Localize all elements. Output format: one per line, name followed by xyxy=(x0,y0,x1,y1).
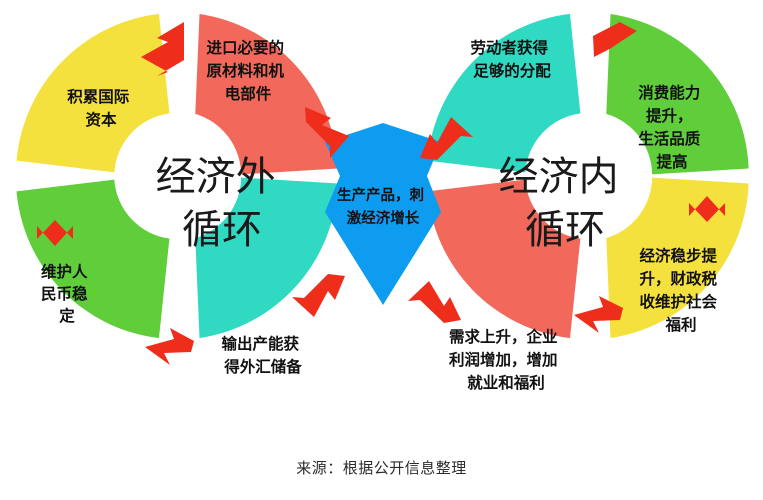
left-segment-rmb-stability[interactable]: 维护人 民币稳 定 xyxy=(3,170,175,339)
left-segment-export-forex[interactable]: 输出产能获 得外汇储备 xyxy=(191,173,345,376)
left-segment-export-forex-label: 输出产能获 得外汇储备 xyxy=(222,334,305,376)
left-segment-rmb-stability-shape[interactable] xyxy=(3,170,175,339)
left-segment-accumulate-capital[interactable]: 积累国际 资本 xyxy=(3,14,175,183)
left-ring-group: 积累国际 资本 进口必要的 原材料和机 电部件 输出产能获 得外汇储备 xyxy=(3,14,345,376)
arrow-right-salmon-to-hub xyxy=(408,281,461,323)
economic-circulation-diagram: 积累国际 资本 进口必要的 原材料和机 电部件 输出产能获 得外汇储备 xyxy=(0,0,763,500)
right-segment-demand-profit-jobs-label: 需求上升，企业 利润增加，增加 就业和福利 xyxy=(449,327,563,392)
source-note: 来源：根据公开信息整理 xyxy=(0,457,763,478)
right-segment-demand-profit-jobs[interactable]: 需求上升，企业 利润增加，增加 就业和福利 xyxy=(414,170,586,392)
left-segment-rmb-stability-label: 维护人 民币稳 定 xyxy=(41,262,93,325)
diagram-canvas: 积累国际 资本 进口必要的 原材料和机 电部件 输出产能获 得外汇储备 xyxy=(0,0,763,500)
